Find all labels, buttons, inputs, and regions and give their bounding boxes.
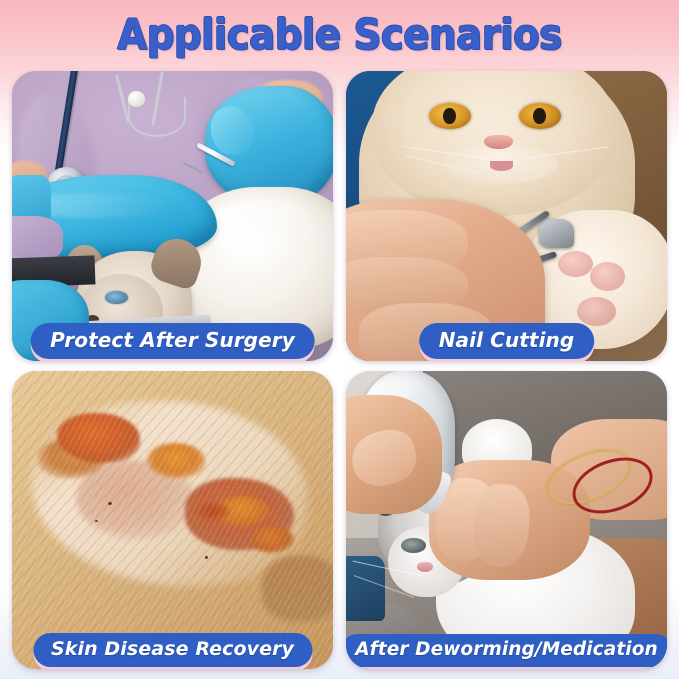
page-title: Applicable Scenarios — [117, 10, 561, 59]
scenario-card-nail-cutting[interactable]: Nail Cutting — [346, 71, 667, 361]
photo-skin-disease-recovery — [12, 371, 333, 669]
photo-nail-cutting — [346, 71, 667, 361]
scenario-label-protect-after-surgery: Protect After Surgery — [30, 323, 315, 359]
infographic-root: Applicable Scenarios — [0, 0, 679, 679]
scenario-card-protect-after-surgery[interactable]: Protect After Surgery — [12, 71, 333, 361]
scenario-card-after-deworming-medication[interactable]: After Deworming/Medication — [346, 371, 667, 669]
page-title-container: Applicable Scenarios — [0, 0, 679, 68]
photo-protect-after-surgery — [12, 71, 333, 361]
photo-after-deworming-medication — [346, 371, 667, 669]
scenario-label-after-deworming-medication: After Deworming/Medication — [346, 634, 667, 667]
scenario-grid: Protect After Surgery — [12, 71, 667, 669]
scenario-label-nail-cutting: Nail Cutting — [419, 323, 595, 359]
scenario-label-skin-disease-recovery: Skin Disease Recovery — [33, 633, 312, 667]
scenario-card-skin-disease-recovery[interactable]: Skin Disease Recovery — [12, 371, 333, 669]
